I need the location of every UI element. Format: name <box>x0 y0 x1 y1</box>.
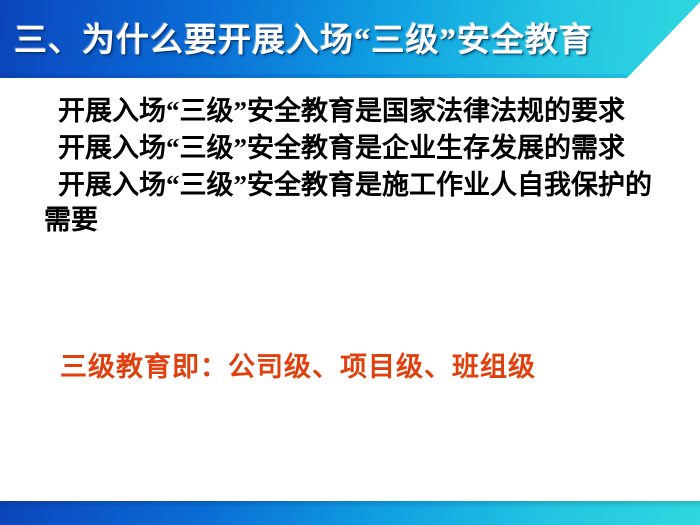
footer-sheen <box>0 501 700 508</box>
slide-title: 三、为什么要开展入场“三级”安全教育 <box>14 18 654 64</box>
emphasis-text: 三级教育即：公司级、项目级、班组级 <box>60 349 536 385</box>
presentation-slide: 三、为什么要开展入场“三级”安全教育 开展入场“三级”安全教育是国家法律法规的要… <box>0 0 700 525</box>
body-paragraph-2: 开展入场“三级”安全教育是企业生存发展的需求 <box>44 131 664 166</box>
slide-body: 开展入场“三级”安全教育是国家法律法规的要求 开展入场“三级”安全教育是企业生存… <box>44 94 664 240</box>
body-paragraph-3: 开展入场“三级”安全教育是施工作业人自我保护的需要 <box>44 168 664 238</box>
body-paragraph-1: 开展入场“三级”安全教育是国家法律法规的要求 <box>44 94 664 129</box>
header-underline-accent <box>0 74 627 78</box>
